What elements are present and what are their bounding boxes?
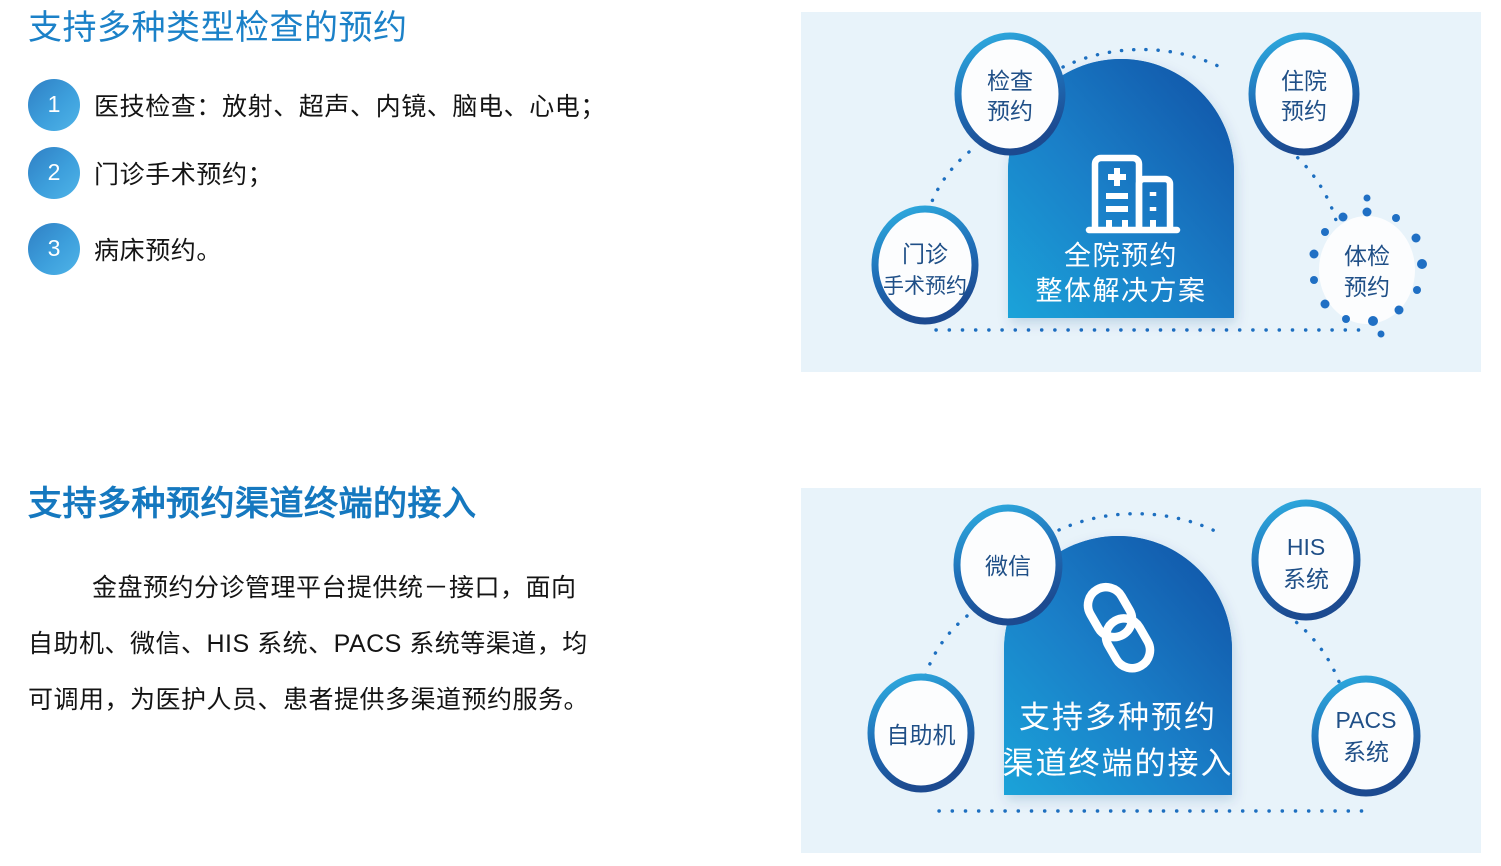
- diagram-panel-exam-types: 全院预约 整体解决方案 检查 预约 住院 预约 门诊 手术预约: [801, 12, 1481, 372]
- diagram-panel-channels: 支持多种预约 渠道终端的接入 微信 HIS 系统 自助机 PACS 系统: [801, 488, 1481, 853]
- bubble-exam-line-2: 预约: [987, 98, 1033, 124]
- bubble-clinic-operation-line-2: 手术预约: [883, 275, 967, 298]
- list-number-badge: 2: [28, 147, 80, 199]
- list-item-label: 门诊手术预约；: [94, 155, 273, 191]
- bubble-pacs[interactable]: PACS 系统: [1315, 679, 1417, 793]
- bubble-kiosk[interactable]: 自助机: [871, 677, 971, 789]
- list-item-label: 病床预约。: [94, 231, 222, 267]
- page-title-channels: 支持多种预约渠道终端的接入: [28, 484, 768, 524]
- dome-caption-line-1: 全院预约: [1064, 241, 1178, 271]
- paragraph-line: 可调用，为医护人员、患者提供多渠道预约服务。: [28, 672, 768, 728]
- numbered-list-exam-types: 1 医技检查：放射、超声、内镜、脑电、心电； 2 门诊手术预约； 3 病床预约。: [28, 76, 768, 278]
- section-channels: 支持多种预约渠道终端的接入 金盘预约分诊管理平台提供统－接口，面向 自助机、微信…: [28, 484, 768, 728]
- bubble-his-line-1: HIS: [1287, 534, 1325, 560]
- list-number-badge: 1: [28, 79, 80, 131]
- bubble-clinic-operation[interactable]: 门诊 手术预约: [875, 209, 975, 321]
- bubble-inpatient-line-2: 预约: [1281, 98, 1327, 124]
- bubble-exam-line-1: 检查: [987, 68, 1033, 94]
- channels-paragraph: 金盘预约分诊管理平台提供统－接口，面向 自助机、微信、HIS 系统、PACS 系…: [28, 560, 768, 728]
- bubble-checkup-line-1: 体检: [1344, 243, 1390, 269]
- bubble-exam[interactable]: 检查 预约: [958, 36, 1062, 152]
- bubble-pacs-line-2: 系统: [1343, 739, 1389, 765]
- list-item: 1 医技检查：放射、超声、内镜、脑电、心电；: [28, 76, 768, 134]
- bubble-his[interactable]: HIS 系统: [1255, 503, 1357, 617]
- list-item: 2 门诊手术预约；: [28, 144, 768, 202]
- bubble-his-line-2: 系统: [1283, 566, 1329, 592]
- bubble-clinic-operation-line-1: 门诊: [902, 241, 948, 267]
- list-number-badge: 3: [28, 223, 80, 275]
- dome-caption-line-2: 渠道终端的接入: [1003, 746, 1234, 781]
- bubble-checkup[interactable]: 体检 预约: [1310, 195, 1428, 338]
- bubble-checkup-line-2: 预约: [1344, 274, 1390, 300]
- bubble-inpatient[interactable]: 住院 预约: [1252, 36, 1356, 152]
- page-title-exam-types: 支持多种类型检查的预约: [28, 8, 768, 48]
- dome-caption-line-1: 支持多种预约: [1019, 700, 1217, 735]
- bubble-wechat-label: 微信: [985, 553, 1031, 579]
- dome-caption-line-2: 整体解决方案: [1036, 276, 1207, 306]
- bubble-pacs-line-1: PACS: [1336, 707, 1397, 733]
- list-item-label: 医技检查：放射、超声、内镜、脑电、心电；: [94, 87, 606, 123]
- list-item: 3 病床预约。: [28, 220, 768, 278]
- paragraph-line: 金盘预约分诊管理平台提供统－接口，面向: [28, 560, 577, 616]
- bubble-wechat[interactable]: 微信: [957, 508, 1059, 622]
- section-exam-types: 支持多种类型检查的预约 1 医技检查：放射、超声、内镜、脑电、心电； 2 门诊手…: [28, 8, 768, 278]
- diagram-channels: 支持多种预约 渠道终端的接入 微信 HIS 系统 自助机 PACS 系统: [801, 488, 1481, 853]
- bubble-kiosk-label: 自助机: [887, 722, 956, 748]
- bubble-inpatient-line-1: 住院: [1281, 68, 1327, 94]
- diagram-exam-types: 全院预约 整体解决方案 检查 预约 住院 预约 门诊 手术预约: [801, 12, 1481, 372]
- paragraph-line: 自助机、微信、HIS 系统、PACS 系统等渠道，均: [28, 616, 768, 672]
